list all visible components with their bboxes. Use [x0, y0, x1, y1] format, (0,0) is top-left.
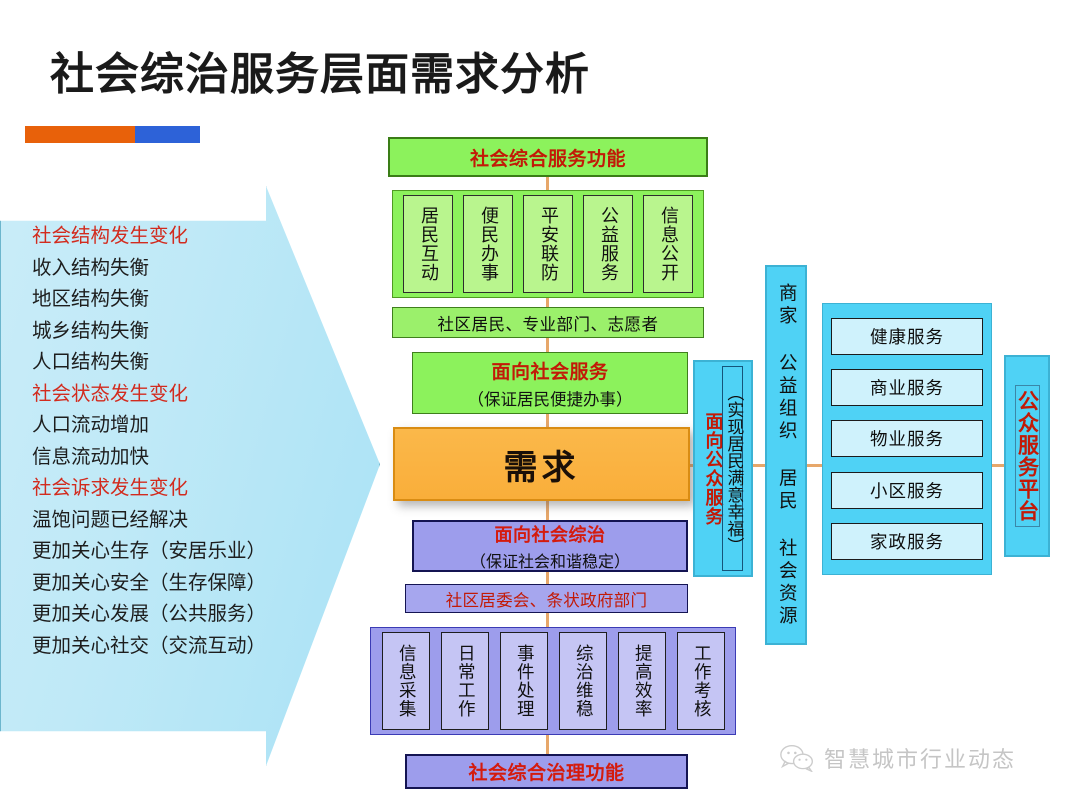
list-item: 社会诉求发生变化 — [32, 472, 332, 504]
governance-item: 综治维稳 — [559, 632, 607, 730]
accent-bar-blue-segment — [135, 126, 200, 143]
list-item: 地区结构失衡 — [32, 283, 332, 315]
list-item: 更加关心社交（交流互动） — [32, 630, 332, 662]
facing-social-governance-title: 面向社会综治 — [495, 521, 606, 547]
accent-bar-orange-segment — [25, 126, 135, 143]
governance-item: 信息采集 — [382, 632, 430, 730]
list-item: 信息流动加快 — [32, 441, 332, 473]
governance-function-items: 信息采集 日常工作 事件处理 综治维稳 提高效率 工作考核 — [370, 627, 736, 735]
facing-public-service-column: （实现居民满意幸福） 面向公众服务 — [693, 360, 753, 577]
list-item: 社会状态发生变化 — [32, 378, 332, 410]
accent-bar — [25, 126, 200, 143]
need-core-box: 需求 — [393, 427, 690, 501]
facing-public-service-title: 面向公众服务 — [703, 412, 722, 526]
governance-item: 工作考核 — [677, 632, 725, 730]
list-item: 城乡结构失衡 — [32, 315, 332, 347]
public-service-platform-column: 公众服务平台 — [1004, 355, 1050, 557]
governance-item: 事件处理 — [500, 632, 548, 730]
facing-social-service-title: 面向社会服务 — [491, 357, 608, 384]
social-resources-label: 商家 公益组织 居民 社会资源 — [777, 283, 796, 628]
social-governance-function-footer: 社会综合治理功能 — [405, 754, 688, 789]
list-item: 社会结构发生变化 — [32, 220, 332, 252]
governance-item: 提高效率 — [618, 632, 666, 730]
service-entry: 物业服务 — [831, 420, 983, 457]
service-item: 便民办事 — [463, 195, 513, 293]
social-service-function-items: 居民互动 便民办事 平安联防 公益服务 信息公开 — [392, 190, 704, 298]
governance-actors: 社区居委会、条状政府部门 — [405, 584, 688, 613]
connector-vertical — [546, 571, 549, 585]
facing-public-service-sub: （实现居民满意幸福） — [722, 366, 744, 571]
governance-item: 日常工作 — [441, 632, 489, 730]
facing-social-governance-sub: （保证社会和谐稳定） — [470, 548, 630, 572]
watermark: 智慧城市行业动态 — [780, 742, 1016, 774]
facing-social-governance-box: 面向社会综治 （保证社会和谐稳定） — [412, 520, 688, 572]
page-title: 社会综治服务层面需求分析 — [50, 38, 590, 102]
demand-source-arrow: 社会结构发生变化 收入结构失衡 地区结构失衡 城乡结构失衡 人口结构失衡 社会状… — [0, 186, 380, 766]
service-entry: 健康服务 — [831, 318, 983, 355]
wechat-icon — [780, 744, 814, 772]
service-item: 信息公开 — [643, 195, 693, 293]
demand-source-list: 社会结构发生变化 收入结构失衡 地区结构失衡 城乡结构失衡 人口结构失衡 社会状… — [32, 220, 332, 661]
connector-vertical — [546, 612, 549, 628]
list-item: 更加关心发展（公共服务） — [32, 598, 332, 630]
list-item: 更加关心生存（安居乐业） — [32, 535, 332, 567]
list-item: 温饱问题已经解决 — [32, 504, 332, 536]
list-item: 更加关心安全（生存保障） — [32, 567, 332, 599]
slide-canvas: 社会综治服务层面需求分析 社会结构发生变化 收入结构失衡 地区结构失衡 城乡结构… — [0, 0, 1080, 810]
watermark-text: 智慧城市行业动态 — [824, 742, 1016, 774]
list-item: 人口结构失衡 — [32, 346, 332, 378]
connector-vertical — [546, 734, 549, 755]
service-entry: 小区服务 — [831, 472, 983, 509]
public-service-platform-label: 公众服务平台 — [1015, 385, 1040, 527]
social-resources-column: 商家 公益组织 居民 社会资源 — [765, 265, 807, 645]
service-entry: 商业服务 — [831, 369, 983, 406]
connector-vertical — [546, 337, 549, 353]
connector-vertical — [546, 413, 549, 428]
service-item: 居民互动 — [403, 195, 453, 293]
service-item: 平安联防 — [523, 195, 573, 293]
service-entry: 家政服务 — [831, 523, 983, 560]
service-item: 公益服务 — [583, 195, 633, 293]
public-services-list: 健康服务 商业服务 物业服务 小区服务 家政服务 — [822, 303, 992, 575]
social-service-function-header: 社会综合服务功能 — [388, 137, 708, 177]
facing-social-service-sub: （保证居民便捷办事） — [468, 386, 633, 410]
facing-social-service-box: 面向社会服务 （保证居民便捷办事） — [412, 352, 688, 414]
list-item: 收入结构失衡 — [32, 252, 332, 284]
social-service-actors: 社区居民、专业部门、志愿者 — [392, 307, 704, 338]
connector-vertical — [546, 500, 549, 521]
list-item: 人口流动增加 — [32, 409, 332, 441]
